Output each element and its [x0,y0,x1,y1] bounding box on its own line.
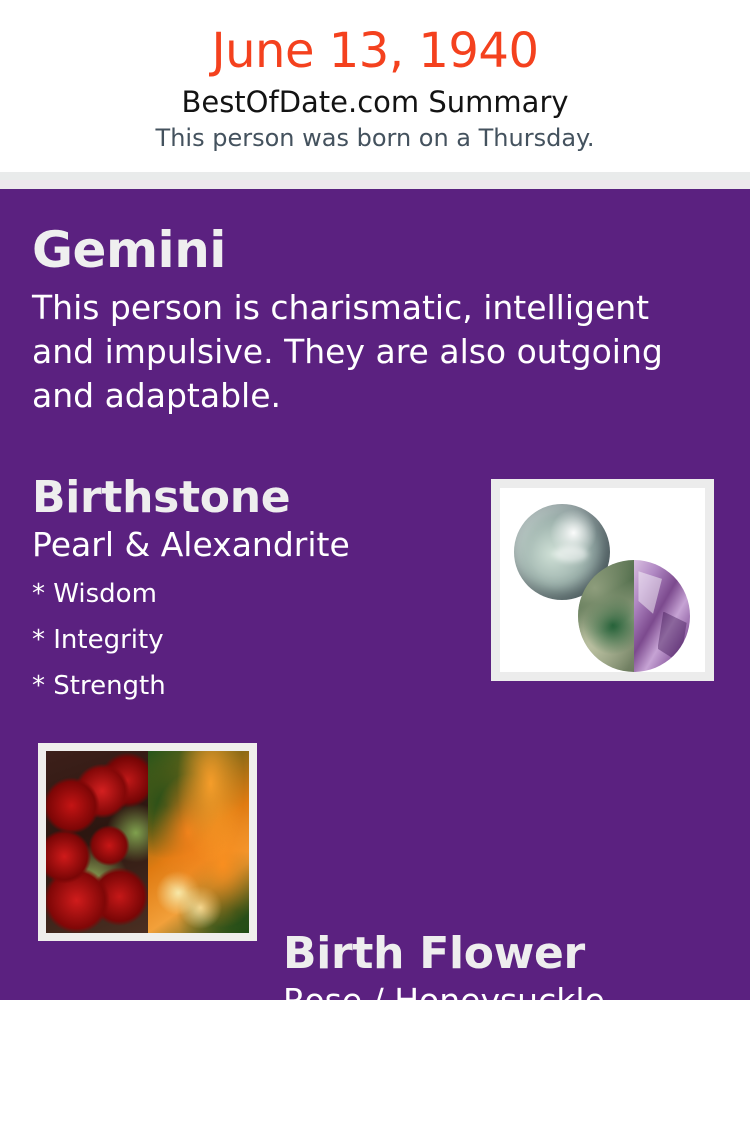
birth-flower-image [46,751,249,933]
list-item: * Strength [32,663,472,709]
birthstone-value: Pearl & Alexandrite [32,524,472,565]
birthstone-trait-list: * Wisdom * Integrity * Strength [32,565,472,709]
honeysuckle-photo-half [148,751,250,933]
header-divider-band [0,172,750,180]
zodiac-description: This person is charismatic, intelligent … [32,279,702,418]
roses-photo-half [46,751,148,933]
alexandrite-icon [578,560,690,672]
page-title-date: June 13, 1940 [0,0,750,80]
birthstone-image-frame [491,479,714,681]
birthstone-section: Birthstone Pearl & Alexandrite * Wisdom … [32,472,472,709]
alexandrite-faceted-half [634,560,690,672]
birthstone-image [500,488,705,672]
birth-flower-title: Birth Flower [283,928,723,980]
alexandrite-rough-half [578,560,634,672]
birth-flower-image-frame [38,743,257,941]
list-item: * Integrity [32,617,472,663]
list-item: * Wisdom [32,571,472,617]
list-item: * Happiness [283,1075,723,1121]
birth-flower-value: Rose / Honeysuckle [283,980,723,1021]
zodiac-section: Gemini This person is charismatic, intel… [32,221,722,418]
list-item: * Romance [283,1029,723,1075]
birthstone-title: Birthstone [32,472,472,524]
header-divider-band-secondary [0,180,750,189]
birth-flower-trait-list: * Romance * Happiness [283,1021,723,1121]
birth-flower-section: Birth Flower Rose / Honeysuckle * Romanc… [283,928,723,1121]
summary-card: June 13, 1940 BestOfDate.com Summary Thi… [0,0,750,1000]
site-name: BestOfDate.com Summary [0,80,750,120]
zodiac-sign-name: Gemini [32,221,722,279]
weekday-line: This person was born on a Thursday. [0,120,750,153]
header: June 13, 1940 BestOfDate.com Summary Thi… [0,0,750,172]
